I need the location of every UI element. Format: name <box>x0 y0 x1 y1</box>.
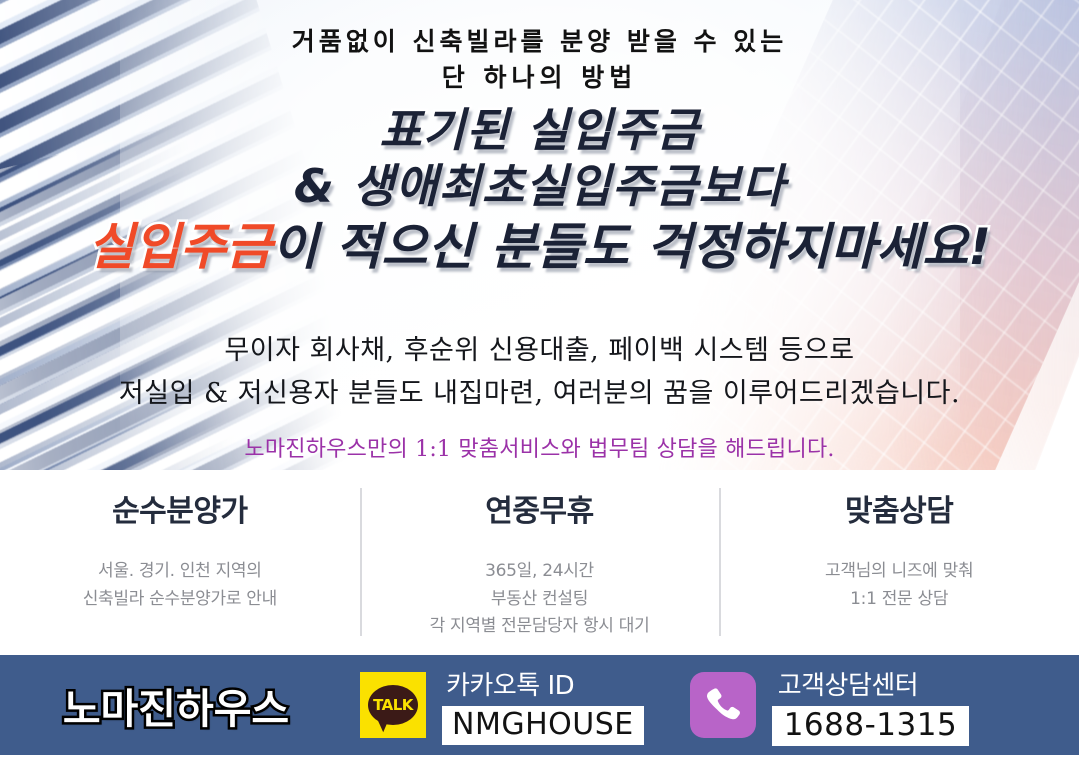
kicker-line-2: 단 하나의 방법 <box>0 60 1079 96</box>
feature-title: 맞춤상담 <box>729 486 1069 530</box>
feature-pure-price: 순수분양가 서울. 경기. 인천 지역의 신축빌라 순수분양가로 안내 <box>0 486 360 613</box>
body-line-1: 무이자 회사채, 후순위 신용대출, 페이백 시스템 등으로 <box>224 335 854 366</box>
feature-desc-line-1: 365일, 24시간 <box>370 558 710 586</box>
kakao-id-value[interactable]: NMGHOUSE <box>442 706 644 745</box>
feature-desc-line-3: 각 지역별 전문담당자 항시 대기 <box>370 613 710 641</box>
headline-line-1: 표기된 실입주금 <box>0 104 1079 156</box>
kakao-id-label: 카카오톡 ID <box>442 665 574 702</box>
kakaotalk-icon[interactable]: TALK <box>360 672 426 738</box>
headline-accent-word: 실입주금 <box>88 218 272 276</box>
kakaotalk-bubble-shape: TALK <box>368 685 418 725</box>
feature-custom-consulting: 맞춤상담 고객님의 니즈에 맞춰 1:1 전문 상담 <box>719 486 1079 613</box>
feature-desc-line-1: 서울. 경기. 인천 지역의 <box>10 558 350 586</box>
kakaotalk-icon-label: TALK <box>373 696 413 714</box>
features-section: 순수분양가 서울. 경기. 인천 지역의 신축빌라 순수분양가로 안내 연중무휴… <box>0 486 1079 638</box>
headline-line-3: 실입주금이 적으신 분들도 걱정하지마세요! <box>0 219 1079 276</box>
advertisement-banner: 거품없이 신축빌라를 분양 받을 수 있는 단 하나의 방법 표기된 실입주금 … <box>0 0 1079 759</box>
purple-note-text: 노마진하우스만의 1:1 맞춤서비스와 법무팀 상담을 해드립니다. <box>244 437 834 462</box>
feature-desc-line-2: 1:1 전문 상담 <box>729 586 1069 614</box>
footer-bar: 노마진하우스 TALK 카카오톡 ID NMGHOUSE <box>0 655 1079 755</box>
feature-open-all-year: 연중무휴 365일, 24시간 부동산 컨설팅 각 지역별 전문담당자 항시 대… <box>360 486 720 641</box>
kicker-line-1: 거품없이 신축빌라를 분양 받을 수 있는 <box>292 27 788 56</box>
customer-center-label: 고객상담센터 <box>772 665 919 702</box>
headline: 표기된 실입주금 & 생애최초실입주금보다 실입주금이 적으신 분들도 걱정하지… <box>0 104 1079 276</box>
purple-note: 노마진하우스만의 1:1 맞춤서비스와 법무팀 상담을 해드립니다. <box>0 431 1079 463</box>
feature-description: 서울. 경기. 인천 지역의 신축빌라 순수분양가로 안내 <box>10 558 350 613</box>
brand-name: 노마진하우스 <box>0 675 352 735</box>
kakao-text-group: 카카오톡 ID NMGHOUSE <box>442 665 644 745</box>
phone-icon[interactable] <box>690 672 756 738</box>
feature-desc-line-1: 고객님의 니즈에 맞춰 <box>729 558 1069 586</box>
headline-line-3-rest: 이 적으신 분들도 걱정하지마세요! <box>272 218 991 276</box>
kicker-text: 거품없이 신축빌라를 분양 받을 수 있는 단 하나의 방법 <box>0 24 1079 95</box>
feature-description: 고객님의 니즈에 맞춰 1:1 전문 상담 <box>729 558 1069 613</box>
body-line-2: 저실입 & 저신용자 분들도 내집마련, 여러분의 꿈을 이루어드리겠습니다. <box>0 373 1079 416</box>
customer-center-number[interactable]: 1688-1315 <box>772 706 969 746</box>
feature-description: 365일, 24시간 부동산 컨설팅 각 지역별 전문담당자 항시 대기 <box>370 558 710 641</box>
body-copy: 무이자 회사채, 후순위 신용대출, 페이백 시스템 등으로 저실입 & 저신용… <box>0 330 1079 415</box>
phone-text-group: 고객상담센터 1688-1315 <box>772 665 969 746</box>
feature-title: 순수분양가 <box>10 486 350 530</box>
feature-desc-line-2: 신축빌라 순수분양가로 안내 <box>10 586 350 614</box>
phone-contact-block[interactable]: 고객상담센터 1688-1315 <box>690 665 969 746</box>
headline-line-2: & 생애최초실입주금보다 <box>0 160 1079 212</box>
feature-title: 연중무휴 <box>370 486 710 530</box>
feature-desc-line-2: 부동산 컨설팅 <box>370 586 710 614</box>
kakao-contact-block[interactable]: TALK 카카오톡 ID NMGHOUSE <box>360 665 644 745</box>
